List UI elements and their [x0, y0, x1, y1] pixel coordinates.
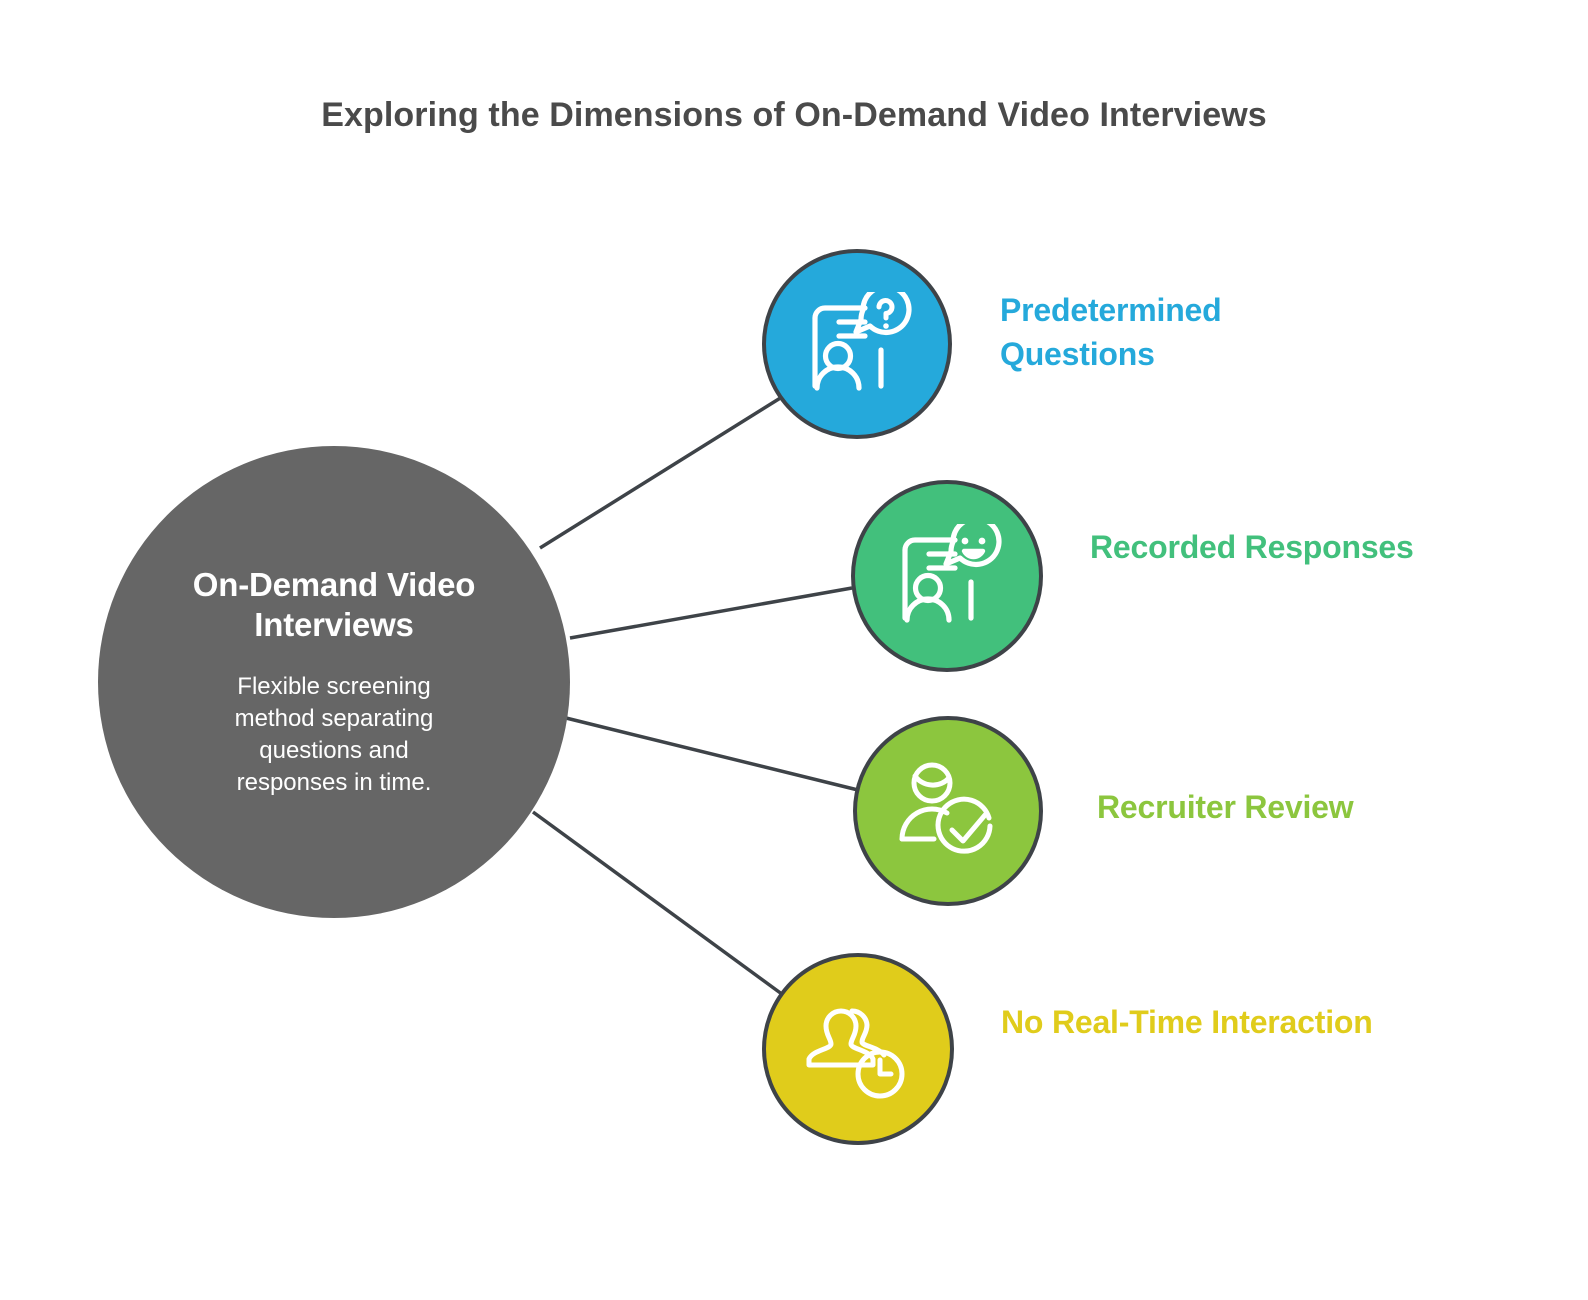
page-title: Exploring the Dimensions of On-Demand Vi…	[0, 96, 1588, 135]
node-circle-predetermined-questions[interactable]	[762, 249, 952, 439]
hub-description: Flexible screening method separating que…	[203, 671, 465, 799]
node-circle-recorded-responses[interactable]	[851, 480, 1043, 672]
presentation-question-icon	[801, 292, 913, 396]
connector-line-2	[566, 718, 858, 790]
presentation-smiley-icon	[891, 524, 1003, 628]
connector-line-3	[533, 812, 790, 1000]
node-label-recruiter-review: Recruiter Review	[1097, 785, 1527, 829]
person-check-icon	[894, 760, 1002, 862]
people-clock-icon	[804, 998, 912, 1100]
hub-title: On-Demand Video Interviews	[160, 565, 508, 646]
node-label-recorded-responses: Recorded Responses	[1090, 525, 1470, 569]
diagram-canvas: Exploring the Dimensions of On-Demand Vi…	[0, 0, 1588, 1300]
node-label-predetermined-questions: Predetermined Questions	[1000, 288, 1380, 376]
node-circle-no-real-time-interaction[interactable]	[762, 953, 954, 1145]
node-circle-recruiter-review[interactable]	[853, 716, 1043, 906]
hub-circle[interactable]: On-Demand Video Interviews Flexible scre…	[98, 446, 570, 918]
connector-line-1	[570, 588, 852, 638]
node-label-no-real-time-interaction: No Real-Time Interaction	[1001, 1000, 1381, 1044]
connector-line-0	[540, 392, 790, 548]
